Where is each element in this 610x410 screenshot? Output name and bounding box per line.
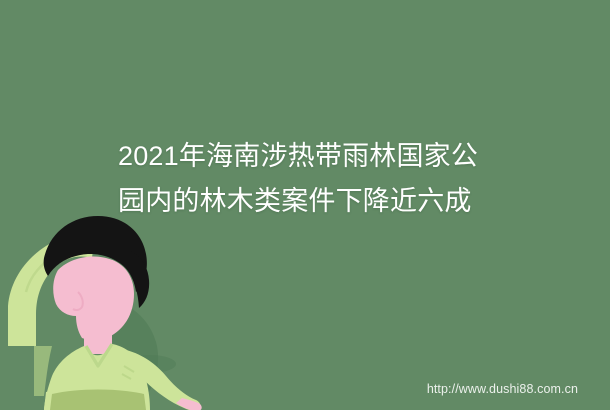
watermark-url: http://www.dushi88.com.cn — [427, 382, 578, 396]
news-banner: 2021年海南涉热带雨林国家公 园内的林木类案件下降近六成 http://www… — [0, 0, 610, 410]
page-title: 2021年海南涉热带雨林国家公 园内的林木类案件下降近六成 — [118, 134, 538, 224]
person-illustration — [0, 196, 215, 410]
pants-group — [50, 390, 146, 410]
